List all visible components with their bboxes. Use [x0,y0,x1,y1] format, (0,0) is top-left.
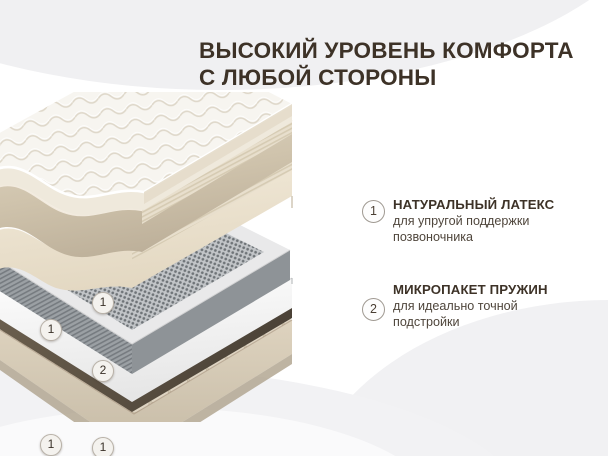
legend-title-springs: МИКРОПАКЕТ ПРУЖИН [393,281,606,298]
legend-description-latex: для упругой поддержки позвоночника [393,214,606,245]
layer-marker-1b: 1 [40,319,62,341]
legend-item-latex: 1 НАТУРАЛЬНЫЙ ЛАТЕКС для упругой поддерж… [362,196,606,245]
mattress-cutaway-illustration: 1 1 2 1 1 [0,92,342,422]
layer-marker-1a: 1 [92,292,114,314]
page-title: ВЫСОКИЙ УРОВЕНЬ КОМФОРТА С ЛЮБОЙ СТОРОНЫ [199,37,599,91]
layer-marker-2a: 2 [92,360,114,382]
layer-marker-1c: 1 [40,434,62,456]
legend-title-latex: НАТУРАЛЬНЫЙ ЛАТЕКС [393,196,606,213]
promo-banner: 1 1 2 1 1 ВЫСОКИЙ УРОВЕНЬ КОМФОРТА С ЛЮБ… [0,0,608,456]
layer-marker-1d: 1 [92,437,114,456]
legend-item-springs: 2 МИКРОПАКЕТ ПРУЖИН для идеально точной … [362,281,606,330]
legend-badge-1: 1 [362,200,385,223]
legend-description-springs: для идеально точной подстройки [393,299,606,330]
legend-badge-2: 2 [362,298,385,321]
